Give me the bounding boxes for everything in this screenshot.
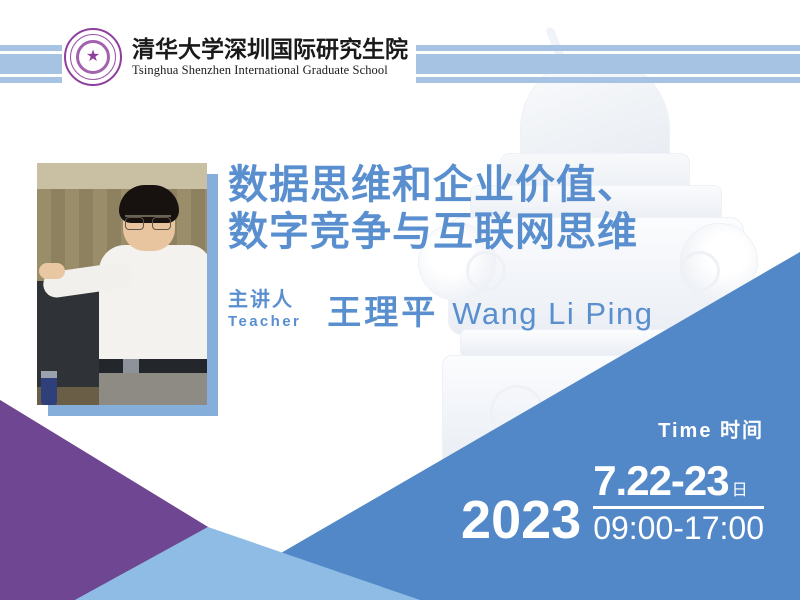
photo-speaker-belt bbox=[99, 359, 207, 373]
institution-name: 清华大学深圳国际研究生院 Tsinghua Shenzhen Internati… bbox=[132, 37, 408, 77]
institution-name-en: Tsinghua Shenzhen International Graduate… bbox=[132, 64, 408, 77]
year-value: 2023 bbox=[461, 495, 581, 546]
photo-speaker-glasses-icon bbox=[125, 215, 171, 226]
speaker-name-en: Wang Li Ping bbox=[452, 296, 653, 332]
speaker-names: 王理平 Wang Li Ping bbox=[327, 285, 653, 334]
photo-water-bottle-cap bbox=[41, 371, 57, 378]
institution-name-cn: 清华大学深圳国际研究生院 bbox=[132, 37, 408, 61]
speaker-name-cn: 王理平 bbox=[327, 285, 438, 334]
photo-speaker-hand bbox=[39, 263, 65, 279]
time-label: Time 时间 bbox=[408, 414, 780, 443]
speaker-label-cn: 主讲人 bbox=[228, 289, 301, 311]
speaker-label: 主讲人 Teacher bbox=[228, 285, 301, 331]
speaker-block: 主讲人 Teacher 王理平 Wang Li Ping bbox=[228, 285, 653, 334]
institution-logo: ★ 清华大学深圳国际研究生院 Tsinghua Shenzhen Interna… bbox=[62, 26, 416, 88]
tsinghua-seal-icon: ★ bbox=[64, 28, 122, 86]
speaker-label-en: Teacher bbox=[228, 313, 301, 331]
poster-canvas: ★ 清华大学深圳国际研究生院 Tsinghua Shenzhen Interna… bbox=[0, 0, 800, 600]
lecture-title: 数据思维和企业价值、 数字竞争与互联网思维 bbox=[228, 162, 788, 256]
lecture-title-line-2: 数字竞争与互联网思维 bbox=[228, 209, 788, 256]
date-divider bbox=[593, 506, 764, 509]
day-row: 7.22-23 日 bbox=[593, 459, 747, 503]
lecture-title-line-1: 数据思维和企业价值、 bbox=[228, 162, 788, 209]
schedule-block: Time 时间 2023 7.22-23 日 09:00-17:00 bbox=[408, 414, 780, 546]
photo-speaker-trousers bbox=[99, 372, 207, 405]
date-main: 2023 7.22-23 日 09:00-17:00 bbox=[408, 459, 780, 546]
photo-water-bottle bbox=[41, 377, 57, 405]
days-value: 7.22-23 bbox=[593, 459, 728, 503]
speaker-photo bbox=[37, 163, 207, 405]
photo-speaker-belt-buckle bbox=[123, 359, 139, 373]
seal-star-icon: ★ bbox=[85, 49, 101, 65]
photo-wall-top bbox=[37, 163, 207, 189]
hours-value: 09:00-17:00 bbox=[593, 511, 764, 546]
day-unit-label: 日 bbox=[732, 476, 748, 500]
date-detail: 7.22-23 日 09:00-17:00 bbox=[593, 459, 764, 546]
